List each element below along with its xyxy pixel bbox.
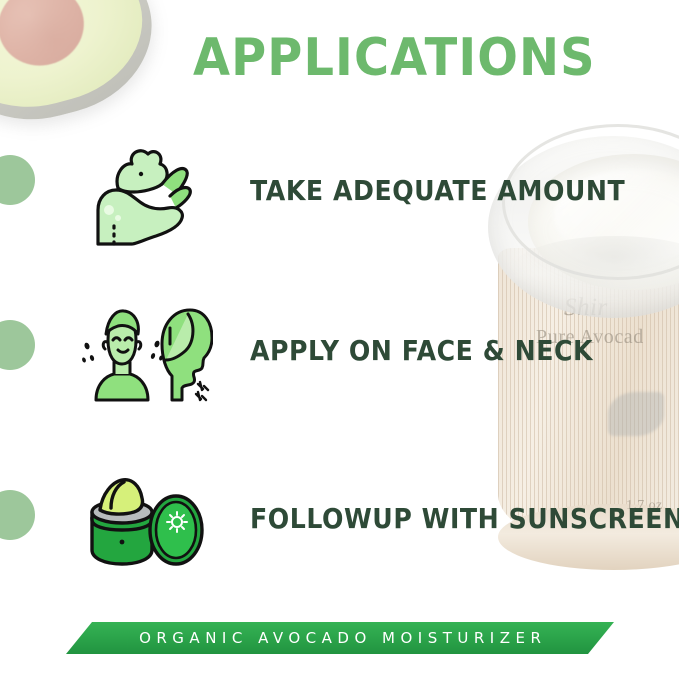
infographic-canvas: Shir Pure Avocad 1.7 oz APPLICATIONS: [0, 0, 679, 679]
step-row-1: TAKE ADEQUATE AMOUNT: [78, 140, 638, 250]
page-title: APPLICATIONS: [193, 28, 596, 88]
step-marker-circle-2: [0, 320, 35, 370]
step-marker-circle-1: [0, 155, 35, 205]
step-row-3: FOLLOWUP WITH SUNSCREEN: [78, 468, 638, 578]
step-label-3: FOLLOWUP WITH SUNSCREEN: [250, 502, 679, 535]
step-marker-circle-3: [0, 490, 35, 540]
hand-with-cream-icon: [78, 140, 198, 250]
avocado-half-image: [0, 0, 170, 140]
step-label-1: TAKE ADEQUATE AMOUNT: [250, 174, 625, 207]
face-and-neck-icon: [78, 300, 198, 410]
sunscreen-jar-icon: [78, 468, 198, 578]
ribbon-text: ORGANIC AVOCADO MOISTURIZER: [66, 622, 614, 654]
bottom-ribbon: ORGANIC AVOCADO MOISTURIZER: [66, 622, 614, 654]
step-row-2: APPLY ON FACE & NECK: [78, 300, 638, 410]
step-label-2: APPLY ON FACE & NECK: [250, 334, 593, 367]
